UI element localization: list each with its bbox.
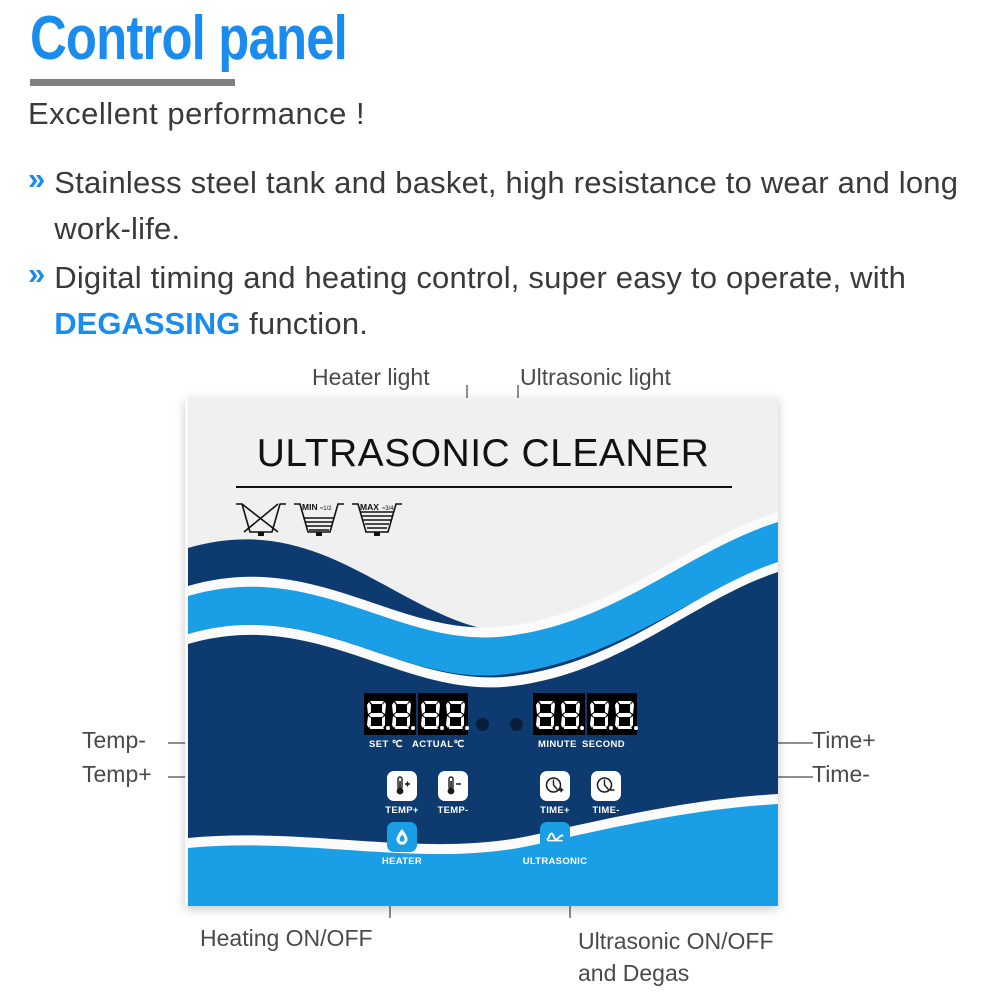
thermometer-minus-icon — [442, 775, 464, 797]
thermometer-plus-icon — [391, 775, 413, 797]
actual-temp-label: ACTUAL℃ — [412, 739, 465, 750]
feature-bullet-1: » Stainless steel tank and basket, high … — [28, 160, 988, 252]
clock-minus-icon — [595, 775, 617, 797]
seven-segment-digits — [364, 693, 416, 735]
header-section: Control panel Excellent performance ! » … — [0, 0, 1000, 350]
time-minus-label: TIME- — [576, 805, 636, 816]
callout-ultrasonic-onoff: Ultrasonic ON/OFF and Degas — [578, 925, 798, 989]
callout-temp-minus: Temp- — [82, 727, 146, 754]
actual-temp-segment — [416, 693, 470, 735]
temp-minus-label: TEMP- — [422, 805, 484, 816]
minute-segment — [533, 693, 585, 735]
panel-inner: ULTRASONIC CLEANER MIN ≈1/2 — [188, 398, 778, 906]
page-title: Control panel — [30, 8, 347, 70]
tank-min-label: MIN — [302, 502, 318, 512]
double-chevron-icon: » — [28, 160, 42, 198]
callout-heater-light: Heater light — [312, 364, 430, 391]
tank-max-sub: ≈3/4 — [382, 506, 394, 512]
device-title-underline — [236, 486, 732, 488]
heater-button[interactable] — [387, 822, 417, 852]
feature-bullet-2-text-after: function. — [240, 306, 368, 341]
timer-display — [533, 693, 637, 735]
seven-segment-digits — [533, 693, 585, 735]
seven-segment-digits — [418, 693, 470, 735]
double-chevron-icon: » — [28, 255, 42, 293]
callout-ultrasonic-light: Ultrasonic light — [520, 364, 671, 391]
time-plus-button[interactable] — [540, 771, 570, 801]
control-panel-device: ULTRASONIC CLEANER MIN ≈1/2 — [185, 398, 778, 906]
ultrasonic-label: ULTRASONIC — [511, 856, 599, 867]
second-label: SECOND — [582, 739, 625, 750]
second-segment — [585, 693, 639, 735]
callout-time-plus: Time+ — [812, 727, 876, 754]
feature-bullet-2-text-before: Digital timing and heating control, supe… — [54, 260, 906, 295]
ultrasonic-led — [510, 718, 523, 731]
device-title: ULTRASONIC CLEANER — [188, 432, 778, 476]
feature-bullet-1-text: Stainless steel tank and basket, high re… — [54, 160, 988, 252]
degassing-emphasis: DEGASSING — [54, 306, 240, 341]
feature-bullet-2: » Digital timing and heating control, su… — [28, 255, 928, 347]
subtitle: Excellent performance ! — [28, 96, 365, 132]
heater-label: HEATER — [363, 856, 441, 867]
temp-minus-button[interactable] — [438, 771, 468, 801]
callout-heating-onoff: Heating ON/OFF — [200, 925, 373, 952]
heater-led — [476, 718, 489, 731]
feature-bullet-2-text: Digital timing and heating control, supe… — [54, 255, 928, 347]
seven-segment-digits — [587, 693, 639, 735]
tank-min-sub: ≈1/2 — [320, 506, 332, 512]
temp-plus-button[interactable] — [387, 771, 417, 801]
sound-wave-icon — [545, 827, 565, 847]
set-temp-segment — [364, 693, 416, 735]
water-drop-icon — [392, 827, 412, 847]
ultrasonic-button[interactable] — [540, 822, 570, 852]
time-minus-button[interactable] — [591, 771, 621, 801]
minute-label: MINUTE — [538, 739, 577, 750]
tank-level-icons: MIN ≈1/2 MAX ≈3/4 — [232, 496, 412, 540]
callout-time-minus: Time- — [812, 761, 870, 788]
title-underline-rule — [30, 79, 235, 86]
callout-temp-plus: Temp+ — [82, 761, 152, 788]
temperature-display — [364, 693, 468, 735]
tank-empty-icon — [236, 504, 286, 536]
clock-plus-icon — [544, 775, 566, 797]
set-temp-label: SET ℃ — [369, 739, 403, 750]
tank-max-label: MAX — [360, 502, 379, 512]
